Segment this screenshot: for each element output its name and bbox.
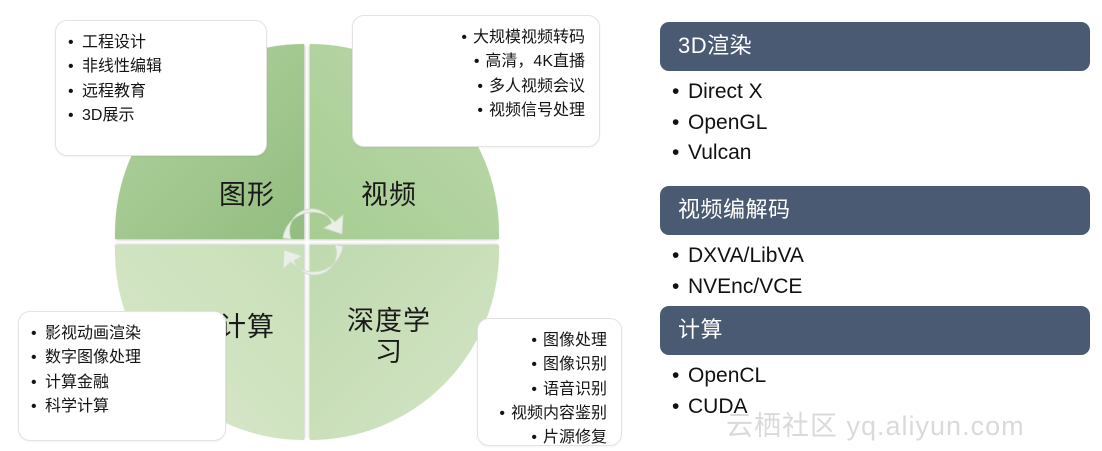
- list-item: Direct X: [672, 77, 1090, 108]
- quadrant-label-video: 视频: [339, 180, 439, 211]
- slide-canvas: 图形 视频 计算 深度学 习 工程设计 非线性编辑 远程教育 3D展示: [0, 0, 1102, 451]
- quadrant-label-graphics: 图形: [197, 180, 297, 211]
- list-item: NVEnc/VCE: [672, 272, 1090, 303]
- section-video-codec: 视频编解码 DXVA/LibVA NVEnc/VCE: [660, 186, 1090, 302]
- list-item: 图像识别: [492, 353, 607, 377]
- list-item: 视频内容鉴别: [492, 402, 607, 426]
- list-item: OpenCL: [672, 361, 1090, 392]
- section-3d-rendering: 3D渲染 Direct X OpenGL Vulcan: [660, 22, 1090, 169]
- list-item: 计算金融: [33, 371, 211, 395]
- callout-video: 大规模视频转码 高清，4K直播 多人视频会议 视频信号处理: [352, 15, 600, 147]
- list-item: 3D展示: [70, 104, 252, 128]
- callout-deep-learning-list: 图像处理 图像识别 语音识别 视频内容鉴别 片源修复: [492, 329, 607, 451]
- list-item: 高清，4K直播: [367, 50, 585, 74]
- list-item: 远程教育: [70, 80, 252, 104]
- list-item: 语音识别: [492, 378, 607, 402]
- list-item: 工程设计: [70, 31, 252, 55]
- list-item: 视频信号处理: [367, 99, 585, 123]
- list-item: 大规模视频转码: [367, 26, 585, 50]
- callout-compute: 影视动画渲染 数字图像处理 计算金融 科学计算: [18, 311, 226, 441]
- list-item: 数字图像处理: [33, 346, 211, 370]
- list-item: 科学计算: [33, 395, 211, 419]
- section-header-video-codec[interactable]: 视频编解码: [660, 186, 1090, 235]
- circular-diagram-pane: 图形 视频 计算 深度学 习 工程设计 非线性编辑 远程教育 3D展示: [0, 0, 640, 451]
- list-item: DXVA/LibVA: [672, 241, 1090, 272]
- section-header-compute[interactable]: 计算: [660, 306, 1090, 355]
- callout-graphics-list: 工程设计 非线性编辑 远程教育 3D展示: [70, 31, 252, 128]
- section-list-video-codec: DXVA/LibVA NVEnc/VCE: [660, 235, 1090, 302]
- callout-deep-learning: 图像处理 图像识别 语音识别 视频内容鉴别 片源修复: [477, 318, 622, 446]
- list-item: 非线性编辑: [70, 55, 252, 79]
- watermark: 云栖社区 yq.aliyun.com: [726, 404, 1025, 443]
- list-item: 多人视频会议: [367, 75, 585, 99]
- section-header-3d-rendering[interactable]: 3D渲染: [660, 22, 1090, 71]
- list-item: 影视动画渲染: [33, 322, 211, 346]
- list-item: 片源修复: [492, 426, 607, 450]
- quadrant-label-deep-learning: 深度学 习: [329, 306, 449, 368]
- callout-video-list: 大规模视频转码 高清，4K直播 多人视频会议 视频信号处理: [367, 26, 585, 123]
- callout-compute-list: 影视动画渲染 数字图像处理 计算金融 科学计算: [33, 322, 211, 419]
- callout-graphics: 工程设计 非线性编辑 远程教育 3D展示: [55, 20, 267, 156]
- list-item: Vulcan: [672, 138, 1090, 169]
- list-item: 图像处理: [492, 329, 607, 353]
- technology-sections-pane: 3D渲染 Direct X OpenGL Vulcan 视频编解码 DXVA/L…: [660, 0, 1102, 451]
- section-list-3d-rendering: Direct X OpenGL Vulcan: [660, 71, 1090, 169]
- list-item: OpenGL: [672, 108, 1090, 139]
